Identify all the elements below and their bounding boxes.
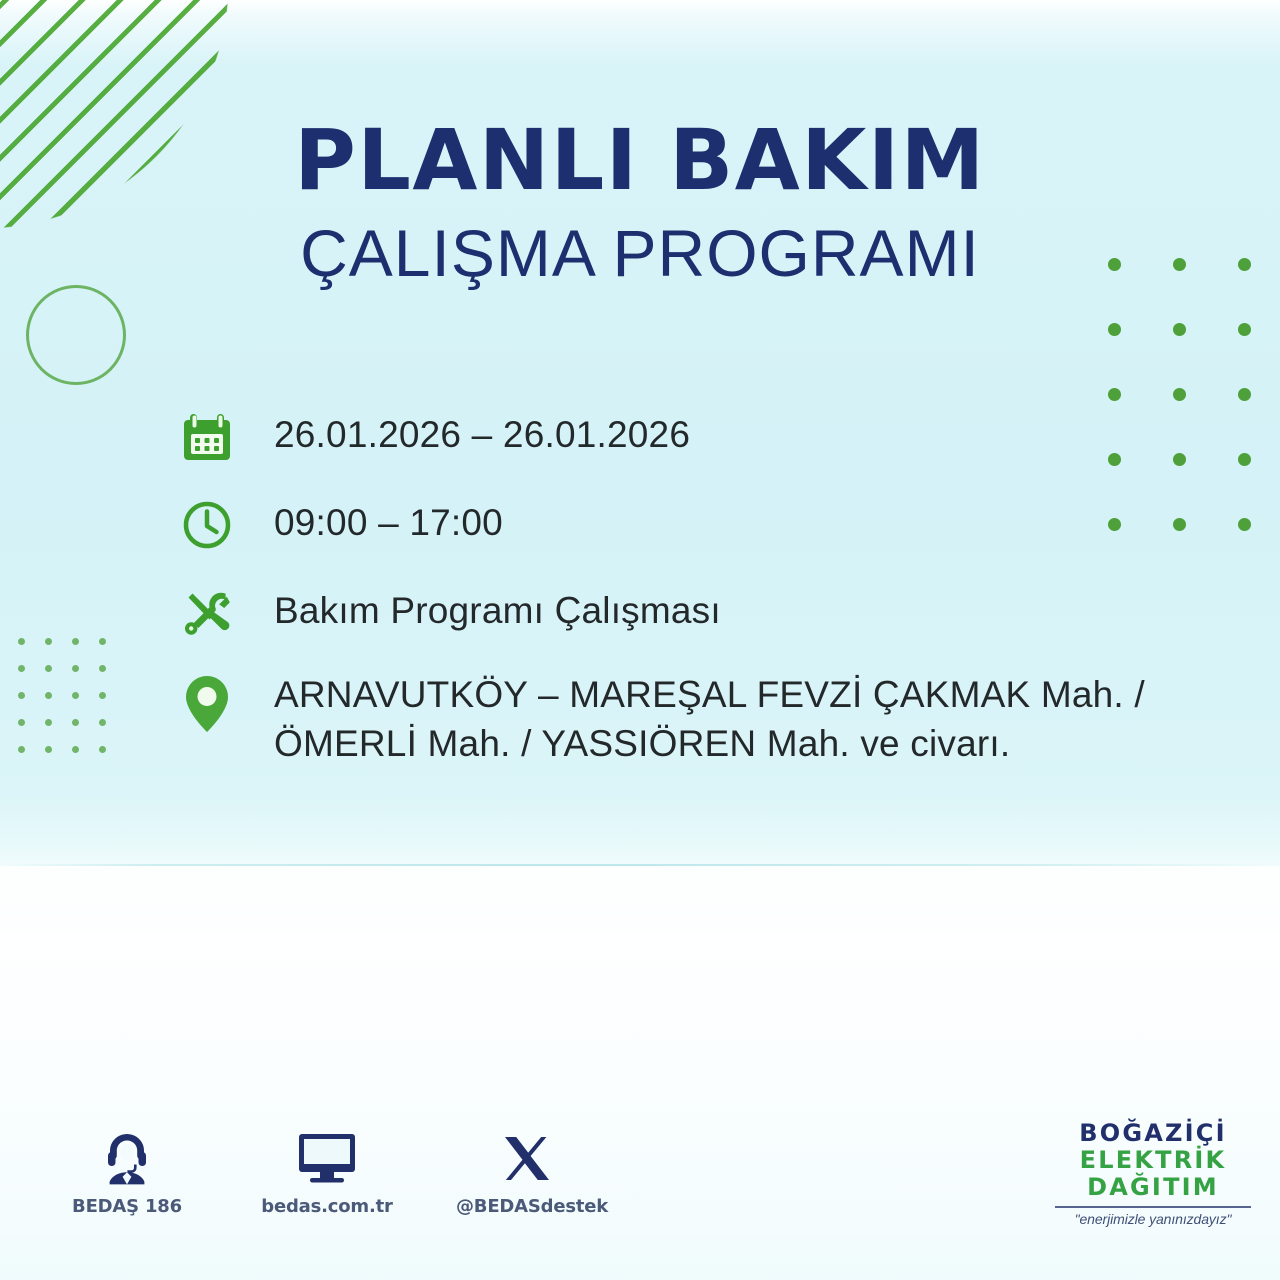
clock-icon	[176, 492, 238, 558]
circle-outline-decoration	[26, 285, 126, 385]
contact-phone[interactable]: BEDAŞ 186	[56, 1124, 198, 1217]
detail-row-work-type: Bakım Programı Çalışması	[176, 580, 1216, 646]
calendar-icon	[176, 404, 238, 470]
contact-x-account[interactable]: @BEDASdestek	[456, 1124, 598, 1217]
contact-x-label: @BEDASdestek	[456, 1196, 598, 1217]
date-range-text: 26.01.2026 – 26.01.2026	[238, 404, 690, 459]
brand-line-bogazici: BOĞAZİÇİ	[1050, 1120, 1256, 1147]
title-secondary: ÇALIŞMA PROGRAMI	[0, 220, 1280, 286]
monitor-website-icon	[256, 1124, 398, 1186]
brand-divider	[1055, 1206, 1251, 1208]
brand-line-dagitim: DAĞITIM	[1050, 1174, 1256, 1201]
maintenance-details-list: 26.01.2026 – 26.01.2026 09:00 – 17:00	[176, 404, 1216, 790]
detail-row-time: 09:00 – 17:00	[176, 492, 1216, 558]
affected-area-line-1: ARNAVUTKÖY – MAREŞAL FEVZİ ÇAKMAK Mah. /	[274, 670, 1145, 719]
location-pin-icon	[176, 668, 238, 740]
x-twitter-icon	[456, 1124, 598, 1186]
detail-row-location: ARNAVUTKÖY – MAREŞAL FEVZİ ÇAKMAK Mah. /…	[176, 668, 1216, 768]
footer: BEDAŞ 186 bedas.com.tr	[0, 1110, 1280, 1280]
tools-icon	[176, 580, 238, 646]
affected-area-text: ARNAVUTKÖY – MAREŞAL FEVZİ ÇAKMAK Mah. /…	[238, 668, 1145, 768]
affected-area-line-2: ÖMERLİ Mah. / YASSIÖREN Mah. ve civarı.	[274, 719, 1145, 768]
panel-divider-line	[0, 864, 1280, 866]
time-range-text: 09:00 – 17:00	[238, 492, 503, 547]
contact-website[interactable]: bedas.com.tr	[256, 1124, 398, 1217]
title-primary: PLANLI BAKIM	[0, 118, 1280, 202]
contact-website-label: bedas.com.tr	[256, 1196, 398, 1217]
brand-line-elektrik: ELEKTRİK	[1050, 1147, 1256, 1174]
headset-support-icon	[56, 1124, 198, 1186]
detail-row-date: 26.01.2026 – 26.01.2026	[176, 404, 1216, 470]
brand-tagline: "enerjimizle yanınızdayız"	[1050, 1211, 1256, 1227]
contact-phone-label: BEDAŞ 186	[56, 1196, 198, 1217]
planned-maintenance-poster: PLANLI BAKIM ÇALIŞMA PROGRAMI	[0, 0, 1280, 1280]
work-type-text: Bakım Programı Çalışması	[238, 580, 721, 635]
dot-grid-decoration-left	[18, 638, 126, 773]
page-title: PLANLI BAKIM ÇALIŞMA PROGRAMI	[0, 118, 1280, 286]
contact-channels: BEDAŞ 186 bedas.com.tr	[56, 1124, 598, 1217]
bedas-logo: BOĞAZİÇİ ELEKTRİK DAĞITIM "enerjimizle y…	[1050, 1120, 1256, 1227]
